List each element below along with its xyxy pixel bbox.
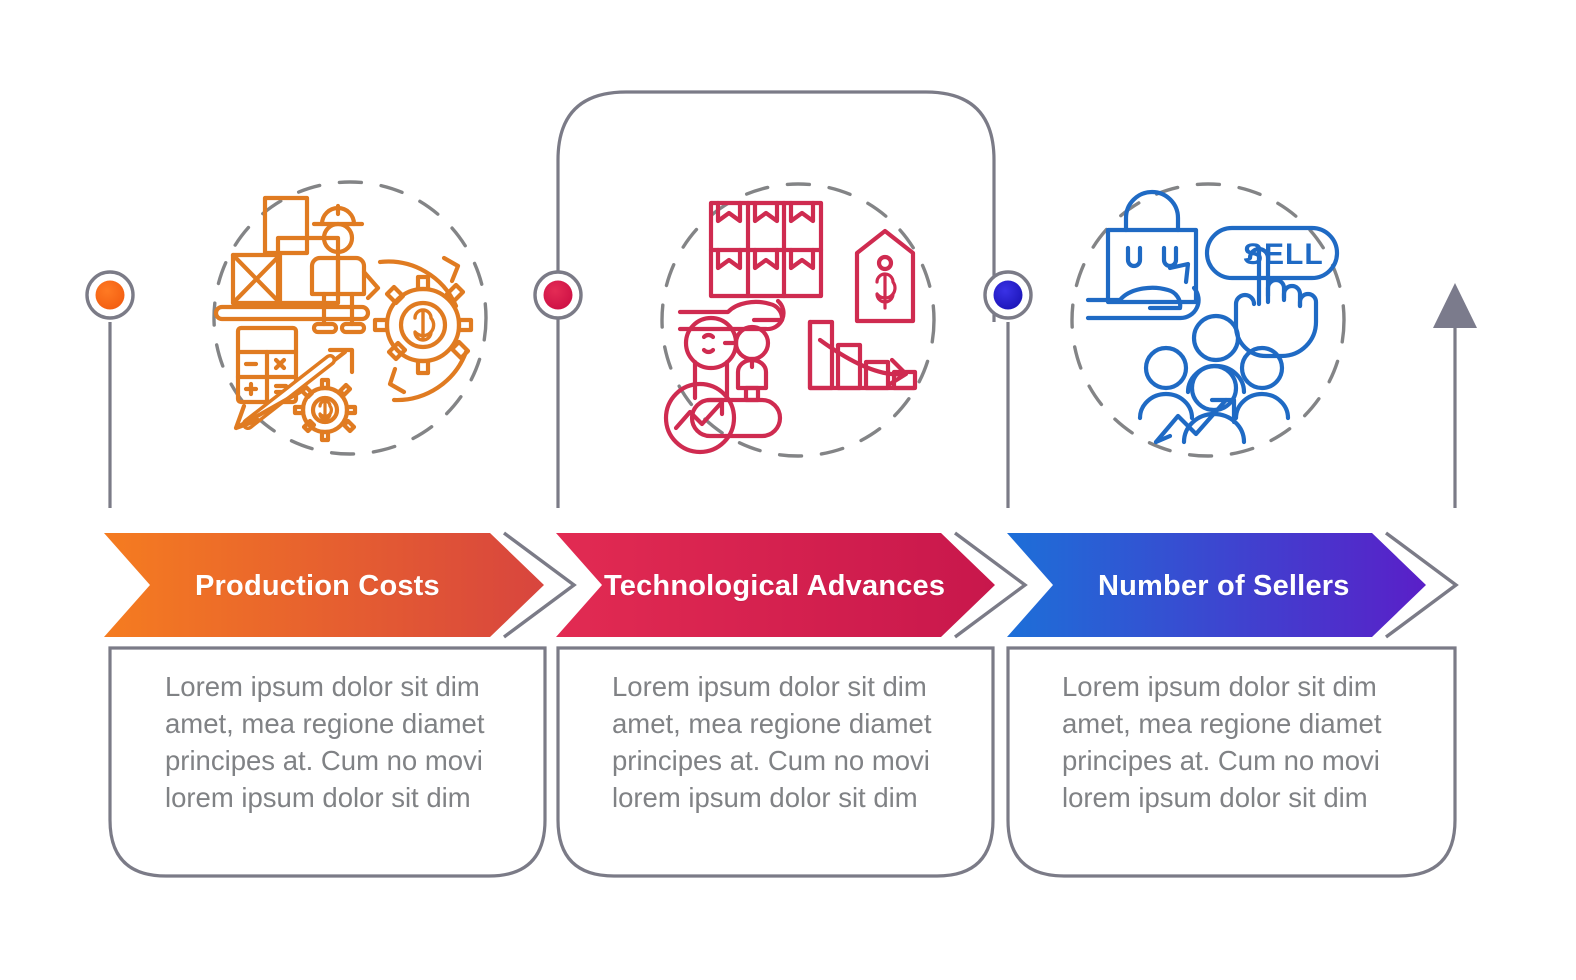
timeline-end-arrow	[1433, 283, 1477, 328]
svg-text:SELL: SELL	[1243, 238, 1324, 271]
description-production-costs: Lorem ipsum dolor sit dim amet, mea regi…	[165, 668, 525, 816]
number-of-sellers-icon: SELL	[1072, 184, 1344, 456]
step-marker-2	[535, 272, 581, 318]
description-number-of-sellers: Lorem ipsum dolor sit dim amet, mea regi…	[1062, 668, 1422, 816]
infographic-graphics: SELL	[0, 0, 1576, 980]
step-marker-3	[985, 272, 1031, 318]
production-costs-icon	[214, 182, 486, 454]
description-technological-advances: Lorem ipsum dolor sit dim amet, mea regi…	[612, 668, 972, 816]
step-marker-1	[87, 272, 133, 318]
banner-label-number-of-sellers[interactable]: Number of Sellers	[1098, 570, 1350, 603]
banner-label-technological-advances[interactable]: Technological Advances	[604, 570, 945, 603]
technological-advances-icon	[662, 184, 934, 456]
banner-label-production-costs[interactable]: Production Costs	[195, 570, 440, 603]
infographic-canvas: SELL Production Costs Technological Adva…	[0, 0, 1576, 980]
